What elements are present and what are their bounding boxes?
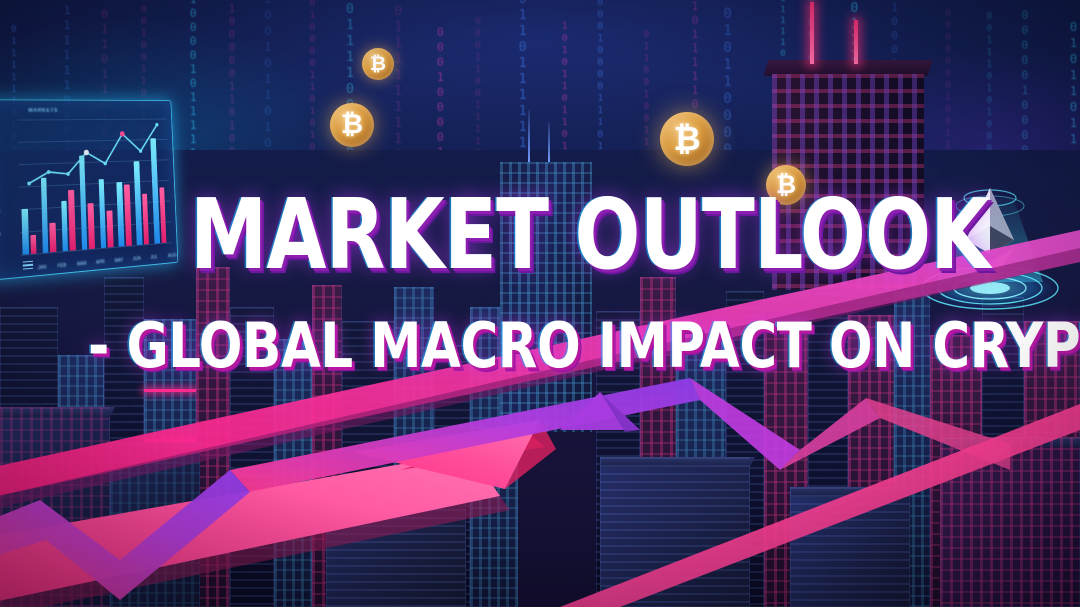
headline-block: MARKET OUTLOOK - GLOBAL MACRO IMPACT ON … [0,0,1080,607]
page-title: MARKET OUTLOOK [190,186,990,283]
page-subtitle: - GLOBAL MACRO IMPACT ON CRYPTO [88,315,1080,377]
market-outlook-banner: 0111111010010000111101011111100010010011… [0,0,1080,607]
